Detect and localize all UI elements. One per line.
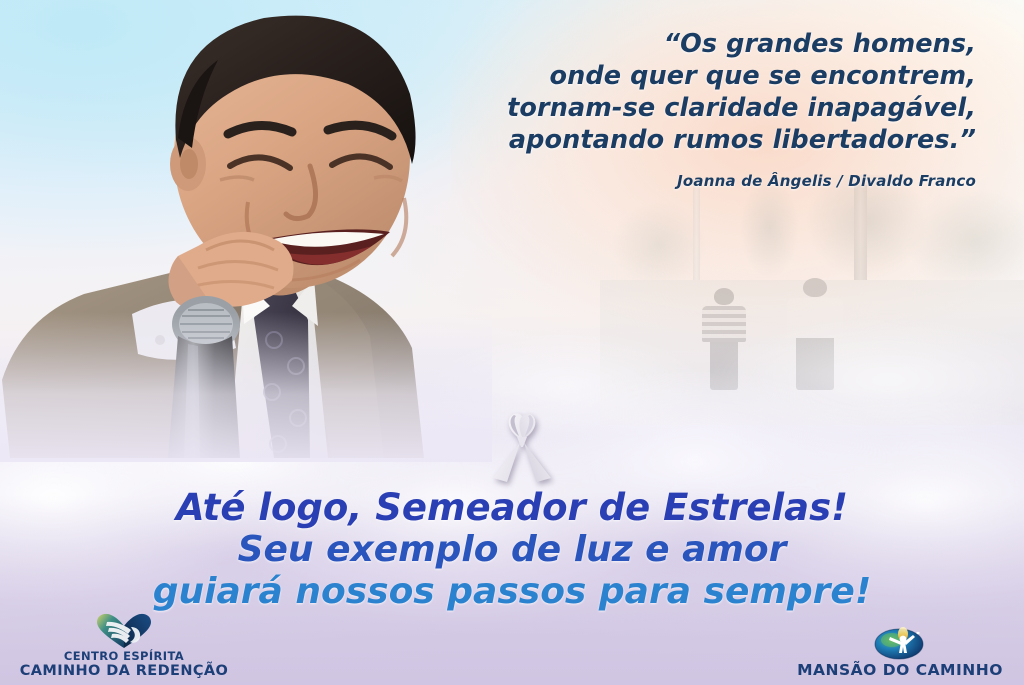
logo-centro-espirita: CENTRO ESPÍRITA CAMINHO DA REDENÇÃO — [8, 610, 240, 679]
logo-right-line-1: MANSÃO DO CAMINHO — [784, 662, 1016, 679]
quote-block: “Os grandes homens, onde quer que se enc… — [376, 28, 976, 156]
quote-line-2: onde quer que se encontrem, — [376, 60, 976, 92]
logo-left-line-2: CAMINHO DA REDENÇÃO — [8, 663, 240, 679]
quote-line-3: tornam-se claridade inapagável, — [376, 92, 976, 124]
headline-line-3: guiará nossos passos para sempre! — [0, 571, 1024, 613]
heart-hands-icon — [8, 610, 240, 650]
quote-line-1: “Os grandes homens, — [376, 28, 976, 60]
headline-block: Até logo, Semeador de Estrelas! Seu exem… — [0, 487, 1024, 613]
headline-line-1: Até logo, Semeador de Estrelas! — [0, 487, 1024, 529]
tribute-poster: “Os grandes homens, onde quer que se enc… — [0, 0, 1024, 685]
logo-left-line-1: CENTRO ESPÍRITA — [8, 650, 240, 663]
headline-line-2: Seu exemplo de luz e amor — [0, 529, 1024, 571]
quote-line-4: apontando rumos libertadores.” — [376, 124, 976, 156]
logo-mansao-do-caminho: MANSÃO DO CAMINHO — [784, 622, 1016, 679]
white-ribbon-icon — [487, 410, 557, 486]
globe-figure-flame-icon — [784, 622, 1016, 662]
quote-attribution: Joanna de Ângelis / Divaldo Franco — [376, 172, 976, 190]
